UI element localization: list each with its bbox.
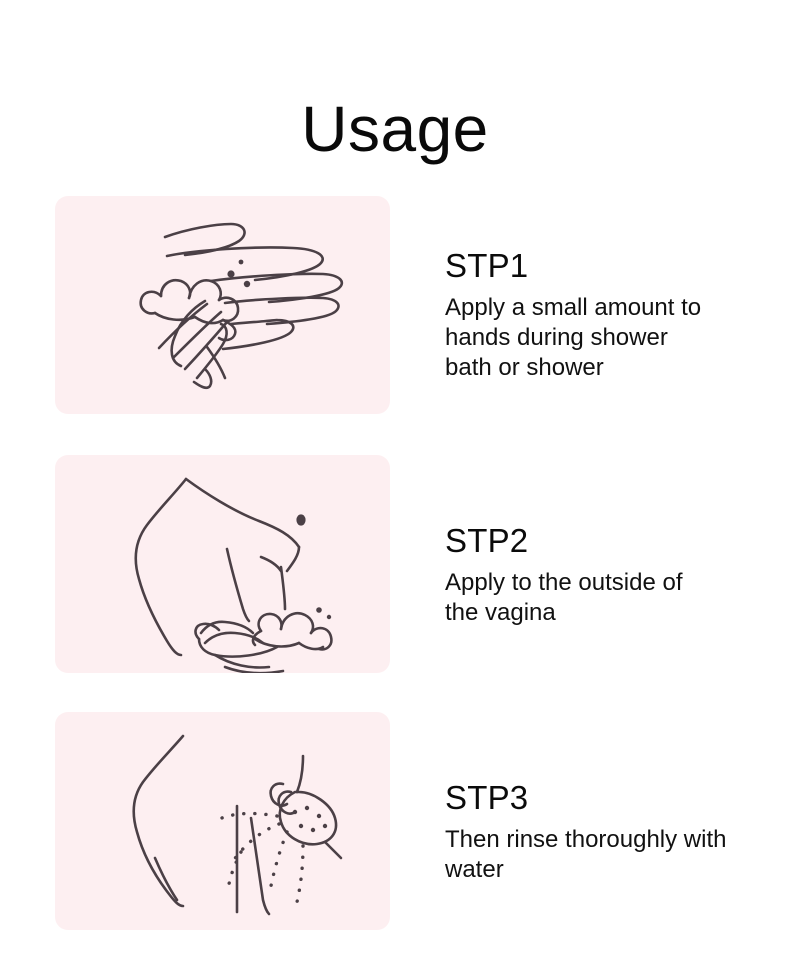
step-illustration-card-3 [55, 712, 390, 930]
step-description: Then rinse thoroughly with water [445, 825, 775, 885]
step-illustration-card-1 [55, 196, 390, 414]
step-heading: STP1 [445, 246, 775, 286]
step-description: Apply a small amount to hands during sho… [445, 293, 775, 383]
step-text-block: STP3 Then rinse thoroughly with water [445, 778, 775, 885]
step-row: STP2 Apply to the outside of the vagina [0, 455, 790, 673]
usage-page: Usage [0, 0, 790, 972]
torso-with-showerhead-icon [55, 712, 390, 930]
step-description: Apply to the outside of the vagina [445, 568, 775, 628]
step-heading: STP3 [445, 778, 775, 818]
step-text-block: STP1 Apply a small amount to hands durin… [445, 246, 775, 383]
hands-lathering-soap-icon [55, 196, 390, 414]
step-row: STP1 Apply a small amount to hands durin… [0, 196, 790, 414]
step-illustration-card-2 [55, 455, 390, 673]
step-text-block: STP2 Apply to the outside of the vagina [445, 521, 775, 628]
torso-with-hand-foam-icon [55, 455, 390, 673]
step-row: STP3 Then rinse thoroughly with water [0, 712, 790, 930]
step-heading: STP2 [445, 521, 775, 561]
page-title: Usage [0, 93, 790, 165]
